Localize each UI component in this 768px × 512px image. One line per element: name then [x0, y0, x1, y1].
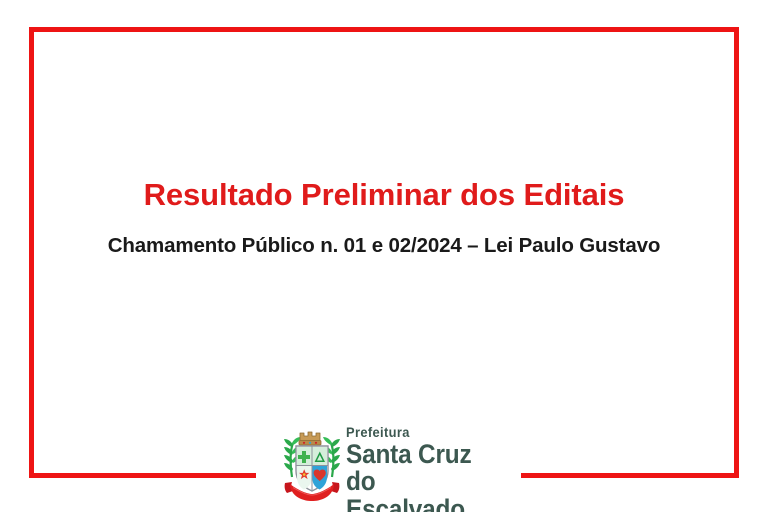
page-subtitle: Chamamento Público n. 01 e 02/2024 – Lei… [0, 213, 768, 258]
coat-of-arms-icon [281, 421, 343, 501]
page-title: Resultado Preliminar dos Editais [0, 178, 768, 213]
logo-city-line-1: Santa Cruz [346, 439, 479, 468]
frame-border-bottom-left [29, 473, 256, 478]
shield-icon [296, 446, 328, 491]
headline-block: Resultado Preliminar dos Editais Chamame… [0, 178, 768, 257]
logo-city-line-2: do Escalvado [346, 468, 479, 512]
logo-prefeitura-label: Prefeitura [346, 425, 479, 439]
announcement-slide: Resultado Preliminar dos Editais Chamame… [0, 0, 768, 512]
crown-icon [299, 432, 321, 445]
frame-border-top [29, 27, 739, 32]
frame-border-bottom-right [521, 473, 739, 478]
prefeitura-logo: Prefeitura Santa Cruz do Escalvado [281, 421, 491, 505]
logo-wordmark: Prefeitura Santa Cruz do Escalvado [343, 421, 491, 512]
